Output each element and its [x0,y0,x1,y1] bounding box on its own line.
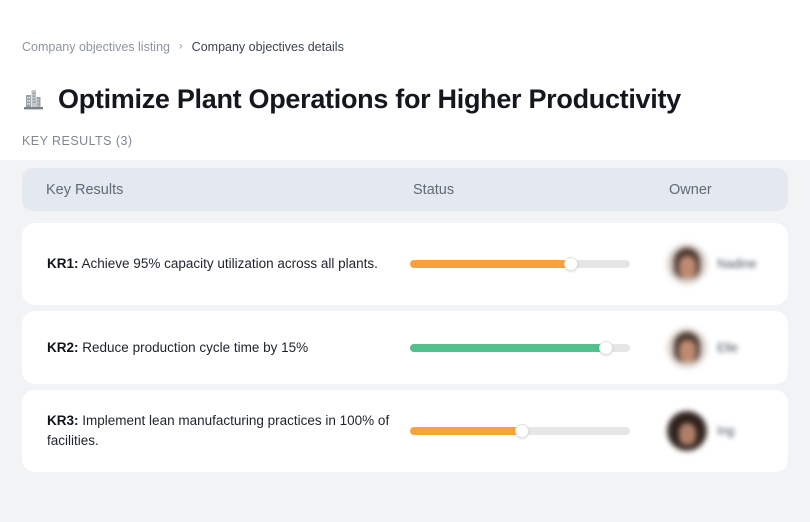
owner-cell[interactable]: Nadine [667,244,757,284]
avatar [667,411,707,451]
progress-handle[interactable] [599,341,613,355]
progress-slider[interactable] [410,255,630,273]
table-row[interactable]: KR2: Reduce production cycle time by 15%… [22,311,788,384]
progress-slider[interactable] [410,339,630,357]
key-result-description: Implement lean manufacturing practices i… [47,413,389,448]
table-header-row: Key Results Status Owner [22,168,788,211]
owner-name: Ing [717,424,734,438]
key-result-text: KR2: Reduce production cycle time by 15% [47,338,392,358]
progress-fill [410,427,522,435]
page-title: Optimize Plant Operations for Higher Pro… [58,82,681,116]
owner-name: Nadine [717,257,757,271]
column-header-status: Status [413,168,454,211]
column-header-owner: Owner [669,168,712,211]
key-results-section-label: KEY RESULTS (3) [22,132,133,150]
progress-handle[interactable] [515,424,529,438]
key-result-text: KR3: Implement lean manufacturing practi… [47,411,392,451]
key-result-text: KR1: Achieve 95% capacity utilization ac… [47,254,392,274]
objective-details-page: Company objectives listing › Company obj… [0,0,810,522]
cityscape-buildings-icon [22,86,46,112]
breadcrumb-chevron-right-icon: › [179,38,183,56]
breadcrumb: Company objectives listing › Company obj… [22,38,344,56]
owner-name: Elle [717,341,738,355]
owner-cell[interactable]: Elle [667,328,738,368]
avatar [667,328,707,368]
progress-fill [410,344,606,352]
table-row[interactable]: KR3: Implement lean manufacturing practi… [22,390,788,472]
breadcrumb-link-listing[interactable]: Company objectives listing [22,38,170,56]
owner-cell[interactable]: Ing [667,411,734,451]
table-row[interactable]: KR1: Achieve 95% capacity utilization ac… [22,223,788,305]
progress-fill [410,260,571,268]
key-results-list: Key Results Status Owner KR1: Achieve 95… [0,160,810,522]
key-result-description: Reduce production cycle time by 15% [82,340,308,355]
progress-slider[interactable] [410,422,630,440]
page-title-row: Optimize Plant Operations for Higher Pro… [22,64,681,134]
breadcrumb-current-details: Company objectives details [192,38,344,56]
avatar [667,244,707,284]
key-result-label: KR1: [47,256,79,271]
key-result-description: Achieve 95% capacity utilization across … [82,256,378,271]
key-result-label: KR3: [47,413,79,428]
key-result-label: KR2: [47,340,79,355]
column-header-key-results: Key Results [46,168,123,211]
progress-handle[interactable] [564,257,578,271]
